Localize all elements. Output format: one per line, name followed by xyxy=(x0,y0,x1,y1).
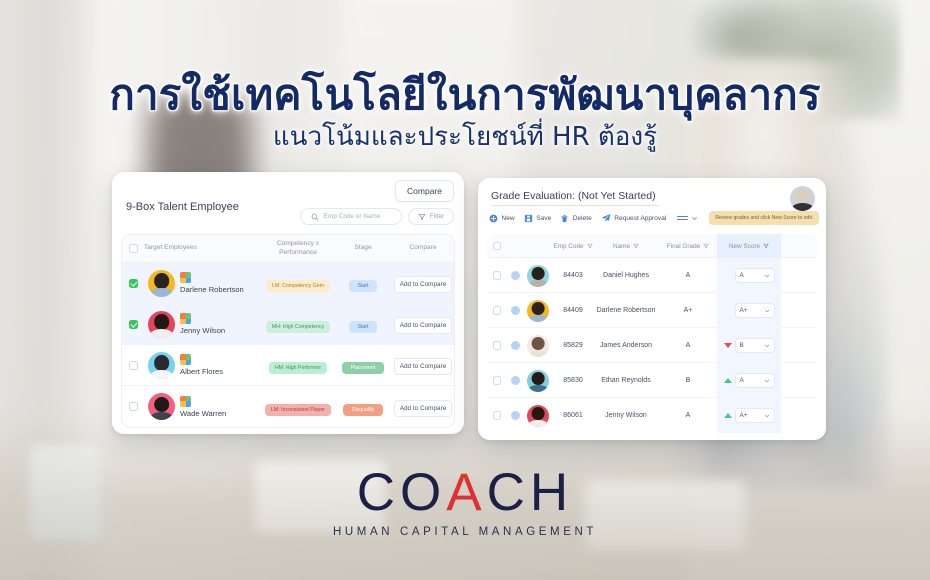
new-score-select[interactable]: A xyxy=(735,373,775,388)
add-to-compare-button[interactable]: Add to Compare xyxy=(394,276,453,293)
filter-button[interactable]: Filter xyxy=(408,208,454,225)
request-approval-label: Request Approval xyxy=(614,215,666,222)
chevron-down-icon xyxy=(691,215,698,222)
emp-code-cell: 84409 xyxy=(553,307,593,314)
add-to-compare-button[interactable]: Add to Compare xyxy=(394,317,453,334)
nine-box-tile-icon xyxy=(180,396,191,407)
avatar xyxy=(148,352,175,379)
logo-part1: CO xyxy=(357,463,447,522)
trend-up-icon xyxy=(724,413,732,418)
stage-badge: Start xyxy=(349,280,378,292)
save-label: Save xyxy=(536,215,551,222)
column-emp-code: Emp Code xyxy=(553,243,593,250)
new-score-value: A xyxy=(740,377,744,384)
avatar xyxy=(527,405,549,427)
table-row[interactable]: 84403Daniel HughesAA xyxy=(487,258,817,293)
new-score-value: B xyxy=(740,342,744,349)
delete-label: Delete xyxy=(573,215,592,222)
page-title: 9-Box Talent Employee xyxy=(126,201,239,213)
coach-logo: COACH HUMAN CAPITAL MANAGEMENT xyxy=(0,466,930,538)
status-dot xyxy=(511,271,520,280)
title-underline xyxy=(491,205,659,206)
competency-badge: MH: High Competency xyxy=(266,321,330,333)
new-button[interactable]: New xyxy=(489,214,515,223)
employee-name-cell: Darlene Robertson xyxy=(593,307,659,314)
new-score-select[interactable]: A+ xyxy=(735,408,775,423)
status-dot xyxy=(511,376,520,385)
select-all-checkbox-grade[interactable] xyxy=(493,242,502,251)
table-row[interactable]: 86061Jenny WilsonAA+ xyxy=(487,398,817,433)
stage-badge: Placement xyxy=(342,362,385,374)
new-score-select[interactable]: A+ xyxy=(735,303,775,318)
nine-box-talent-panel: Compare 9-Box Talent Employee Emp Code o… xyxy=(112,172,464,434)
emp-code-cell: 86061 xyxy=(553,412,593,419)
competency-badge: LM: Inconsistent Player xyxy=(265,404,331,416)
sort-filter-icon[interactable] xyxy=(703,243,709,249)
search-icon xyxy=(311,213,319,221)
add-to-compare-button[interactable]: Add to Compare xyxy=(394,400,453,417)
headline-subtitle: แนวโน้มและประโยชน์ที่ HR ต้องรู้ xyxy=(0,123,930,153)
row-checkbox[interactable] xyxy=(493,376,502,385)
delete-button[interactable]: Delete xyxy=(560,214,592,223)
stage-badge: Start xyxy=(349,321,378,333)
column-new-score: New Score xyxy=(717,234,781,258)
avatar xyxy=(148,393,175,420)
status-dot xyxy=(511,411,520,420)
filter-label: Filter xyxy=(430,213,444,220)
paper-plane-icon xyxy=(601,213,611,223)
compare-button[interactable]: Compare xyxy=(395,180,454,202)
competency-badge: HM: High Performer xyxy=(269,362,327,374)
new-label: New xyxy=(502,215,515,222)
emp-code-cell: 85830 xyxy=(553,377,593,384)
emp-code-cell: 85829 xyxy=(553,342,593,349)
table-row[interactable]: Darlene RobertsonLM: Competency GemStart… xyxy=(122,263,454,304)
row-checkbox[interactable] xyxy=(493,341,502,350)
new-score-value: A+ xyxy=(740,412,748,419)
new-score-select[interactable]: B xyxy=(735,338,775,353)
trend-down-icon xyxy=(724,343,732,348)
new-score-value: A+ xyxy=(740,307,748,314)
competency-badge: LM: Competency Gem xyxy=(266,280,330,292)
nine-box-tile-icon xyxy=(180,272,191,283)
employee-name-cell: James Anderson xyxy=(593,342,659,349)
column-name: Name xyxy=(593,243,659,250)
employee-name-cell: Daniel Hughes xyxy=(593,272,659,279)
column-compare: Compare xyxy=(392,244,454,252)
row-checkbox[interactable] xyxy=(129,361,138,370)
emp-code-cell: 84403 xyxy=(553,272,593,279)
right-panel-header: Grade Evaluation: (Not Yet Started) New … xyxy=(478,178,826,234)
save-disk-icon xyxy=(524,214,533,223)
chevron-down-icon xyxy=(764,308,770,314)
grade-table-header: Emp Code Name Final Grade New Score xyxy=(487,234,817,258)
table-row[interactable]: Albert FloresHM: High PerformerPlacement… xyxy=(122,345,454,386)
final-grade-cell: A+ xyxy=(659,307,717,314)
new-score-value: A xyxy=(740,272,744,279)
request-approval-button[interactable]: Request Approval xyxy=(601,213,667,223)
nine-box-tile-icon xyxy=(180,354,191,365)
grade-toolbar: New Save Delete xyxy=(489,211,816,225)
employee-name-cell: Ethan Reynolds xyxy=(593,377,659,384)
table-row[interactable]: Jenny WilsonMH: High CompetencyStartAdd … xyxy=(122,304,454,345)
new-score-select[interactable]: A xyxy=(735,268,775,283)
plus-circle-icon xyxy=(489,214,498,223)
sort-filter-icon[interactable] xyxy=(763,243,769,249)
edit-hint-banner: Review grades and click New Score to edi… xyxy=(709,211,819,225)
final-grade-cell: A xyxy=(659,342,717,349)
headline-main: การใช้เทคโนโลยีในการพัฒนาบุคลากร xyxy=(0,72,930,117)
employee-name-cell: Jenny Wilson xyxy=(593,412,659,419)
chevron-down-icon xyxy=(764,343,770,349)
table-row[interactable]: 85829James AndersonAB xyxy=(487,328,817,363)
final-grade-cell: B xyxy=(659,377,717,384)
grade-evaluation-panel: Grade Evaluation: (Not Yet Started) New … xyxy=(478,178,826,440)
row-checkbox[interactable] xyxy=(493,271,502,280)
column-stage: Stage xyxy=(334,244,392,252)
chevron-down-icon xyxy=(764,273,770,279)
row-checkbox[interactable] xyxy=(493,306,502,315)
sort-filter-icon[interactable] xyxy=(633,243,639,249)
logo-tagline: HUMAN CAPITAL MANAGEMENT xyxy=(0,526,930,538)
employee-name: Darlene Robertson xyxy=(180,285,244,294)
search-input[interactable]: Emp Code or Name xyxy=(300,208,402,225)
headline-block: การใช้เทคโนโลยีในการพัฒนาบุคลากร แนวโน้ม… xyxy=(0,72,930,153)
left-panel-header: Compare 9-Box Talent Employee Emp Code o… xyxy=(112,172,464,234)
column-final-grade: Final Grade xyxy=(659,243,717,250)
employee-name: Albert Flores xyxy=(180,367,223,376)
sort-filter-icon[interactable] xyxy=(587,243,593,249)
avatar xyxy=(527,335,549,357)
search-placeholder: Emp Code or Name xyxy=(324,213,380,220)
status-dot xyxy=(511,306,520,315)
final-grade-cell: A xyxy=(659,272,717,279)
row-checkbox[interactable] xyxy=(129,320,138,329)
avatar xyxy=(148,311,175,338)
stage-badge: Disqualify xyxy=(343,404,384,416)
chevron-down-icon xyxy=(764,413,770,419)
chevron-down-icon xyxy=(764,378,770,384)
avatar xyxy=(527,370,549,392)
employee-name: Wade Warren xyxy=(180,409,226,418)
logo-accent-letter: A xyxy=(446,463,486,522)
final-grade-cell: A xyxy=(659,412,717,419)
filter-icon xyxy=(418,213,426,221)
column-competency-performance: Competency x Performance xyxy=(262,240,334,256)
select-all-checkbox[interactable] xyxy=(129,244,138,253)
row-checkbox[interactable] xyxy=(493,411,502,420)
grade-evaluation-title: Grade Evaluation: (Not Yet Started) xyxy=(491,190,656,202)
status-dot xyxy=(511,341,520,350)
add-to-compare-button[interactable]: Add to Compare xyxy=(394,358,453,375)
employee-name: Jenny Wilson xyxy=(180,326,225,335)
logo-part2: CH xyxy=(487,463,574,522)
grade-table: Emp Code Name Final Grade New Score xyxy=(487,234,817,433)
avatar xyxy=(527,265,549,287)
table-row[interactable]: 85830Ethan ReynoldsBA xyxy=(487,363,817,398)
hamburger-menu-icon xyxy=(677,216,688,220)
logo-wordmark: COACH xyxy=(0,466,930,519)
nine-box-tile-icon xyxy=(180,313,191,324)
column-target-employees: Target Employees xyxy=(144,244,262,252)
talent-table: Target Employees Competency x Performanc… xyxy=(121,234,455,428)
avatar xyxy=(148,270,175,297)
avatar xyxy=(527,300,549,322)
table-row[interactable]: Wade WarrenLM: Inconsistent PlayerDisqua… xyxy=(122,386,454,427)
user-avatar[interactable] xyxy=(790,186,815,211)
trash-icon xyxy=(560,214,569,223)
trend-up-icon xyxy=(724,378,732,383)
save-button[interactable]: Save xyxy=(524,214,552,223)
table-row[interactable]: 84409Darlene RobertsonA+A+ xyxy=(487,293,817,328)
toolbar-menu-button[interactable] xyxy=(677,215,698,222)
talent-table-header: Target Employees Competency x Performanc… xyxy=(122,235,454,263)
row-checkbox[interactable] xyxy=(129,402,138,411)
row-checkbox[interactable] xyxy=(129,279,138,288)
